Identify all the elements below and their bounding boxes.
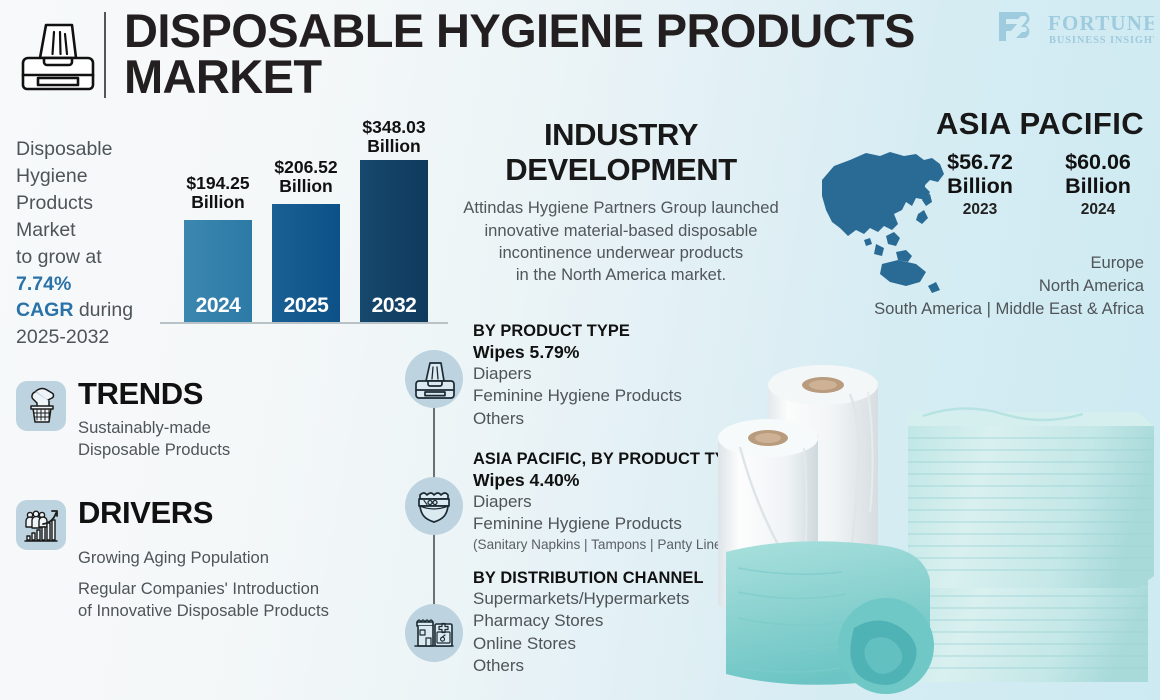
folded-cloth: [726, 541, 934, 694]
drivers-item-2-line2: of Innovative Disposable Products: [78, 600, 329, 622]
segment-1-title: BY PRODUCT TYPE: [473, 322, 773, 341]
bar-label-2024: 2024: [184, 294, 252, 318]
pharmacy-store-icon: [405, 604, 463, 662]
market-size-bar-chart: $194.25 Billion 2024 $206.52 Billion 202…: [160, 118, 450, 328]
summary-line-1: Disposable Hygiene: [16, 136, 176, 190]
bar-unit-2025: Billion: [279, 176, 332, 196]
forecast-period: 2025-2032: [16, 324, 176, 351]
asia-year-2024: 2024: [1050, 201, 1146, 219]
page-title: DISPOSABLE HYGIENE PRODUCTS MARKET: [124, 8, 984, 100]
asia-figure-2023: $56.72 Billion 2023: [932, 150, 1028, 219]
drivers-item-2: Regular Companies' Introduction of Innov…: [78, 578, 329, 623]
cagr-label: CAGR: [16, 299, 73, 321]
drivers-item-2-line1: Regular Companies' Introduction: [78, 578, 329, 600]
hand-dropping-tissue-in-bin-icon: [16, 381, 66, 431]
summary-line-4: to grow at: [16, 244, 176, 271]
fortune-business-insights-logo: FORTUNE BUSINESS INSIGHTS: [996, 8, 1154, 50]
population-growth-chart-icon: [16, 500, 66, 550]
industry-development-title: INDUSTRY DEVELOPMENT: [432, 118, 810, 187]
wipes-box-icon: [405, 350, 463, 408]
diaper-icon: [405, 477, 463, 535]
asia-figure-2024: $60.06 Billion 2024: [1050, 150, 1146, 219]
trends-line-1: Sustainably-made: [78, 417, 230, 439]
bar-group-2032: $348.03 Billion 2032: [360, 152, 428, 322]
chart-baseline: [160, 322, 448, 324]
pad-stack-upper: [908, 408, 1154, 588]
bar-rect-2025: 2025: [272, 204, 340, 322]
region-south-america-mea: South America | Middle East & Africa: [744, 298, 1144, 321]
bar-unit-2024: Billion: [191, 192, 244, 212]
industry-dev-title-line2: DEVELOPMENT: [432, 153, 810, 188]
bar-value-2024: $194.25: [186, 173, 249, 193]
region-north-america: North America: [744, 275, 1144, 298]
asia-year-2023: 2023: [932, 201, 1028, 219]
bar-unit-2032: Billion: [367, 136, 420, 156]
bar-label-2032: 2032: [360, 294, 428, 318]
bar-rect-2024: 2024: [184, 220, 252, 322]
asia-unit-2023: Billion: [932, 174, 1028, 198]
bar-value-2025: $206.52: [274, 157, 337, 177]
asia-pacific-title: ASIA PACIFIC: [814, 106, 1144, 142]
header-divider: [104, 12, 106, 98]
trends-heading: TRENDS: [78, 376, 203, 412]
bar-rect-2032: 2032: [360, 160, 428, 322]
industry-dev-body-line2: innovative material-based disposable: [432, 220, 810, 242]
region-europe: Europe: [744, 252, 1144, 275]
summary-line-3: Market: [16, 217, 176, 244]
other-regions-list: Europe North America South America | Mid…: [744, 252, 1144, 321]
bar-group-2024: $194.25 Billion 2024: [184, 216, 252, 322]
asia-amount-2024: $60.06: [1050, 150, 1146, 174]
drivers-item-1: Growing Aging Population: [78, 547, 269, 569]
bar-group-2025: $206.52 Billion 2025: [272, 202, 340, 322]
market-summary-text: Disposable Hygiene Products Market to gr…: [16, 136, 176, 351]
industry-dev-body-line1: Attindas Hygiene Partners Group launched: [432, 197, 810, 219]
trends-body: Sustainably-made Disposable Products: [78, 417, 230, 462]
industry-dev-title-line1: INDUSTRY: [432, 118, 810, 153]
asia-unit-2024: Billion: [1050, 174, 1146, 198]
cagr-value: 7.74%: [16, 271, 176, 298]
product-photo: [718, 352, 1160, 700]
asia-pacific-figures: $56.72 Billion 2023 $60.06 Billion 2024: [932, 150, 1146, 219]
pad-stack-lower: [898, 574, 1148, 682]
trends-line-2: Disposable Products: [78, 439, 230, 461]
drivers-heading: DRIVERS: [78, 495, 213, 531]
infographic-canvas: DISPOSABLE HYGIENE PRODUCTS MARKET FORTU…: [0, 0, 1160, 700]
bar-value-2032: $348.03: [362, 117, 425, 137]
asia-amount-2023: $56.72: [932, 150, 1028, 174]
bar-label-2025: 2025: [272, 294, 340, 318]
summary-line-2: Products: [16, 190, 176, 217]
tissue-box-icon: [16, 14, 96, 96]
during-word: during: [73, 299, 133, 321]
brand-tagline: BUSINESS INSIGHTS: [1049, 35, 1154, 46]
brand-name: FORTUNE: [1048, 11, 1154, 35]
